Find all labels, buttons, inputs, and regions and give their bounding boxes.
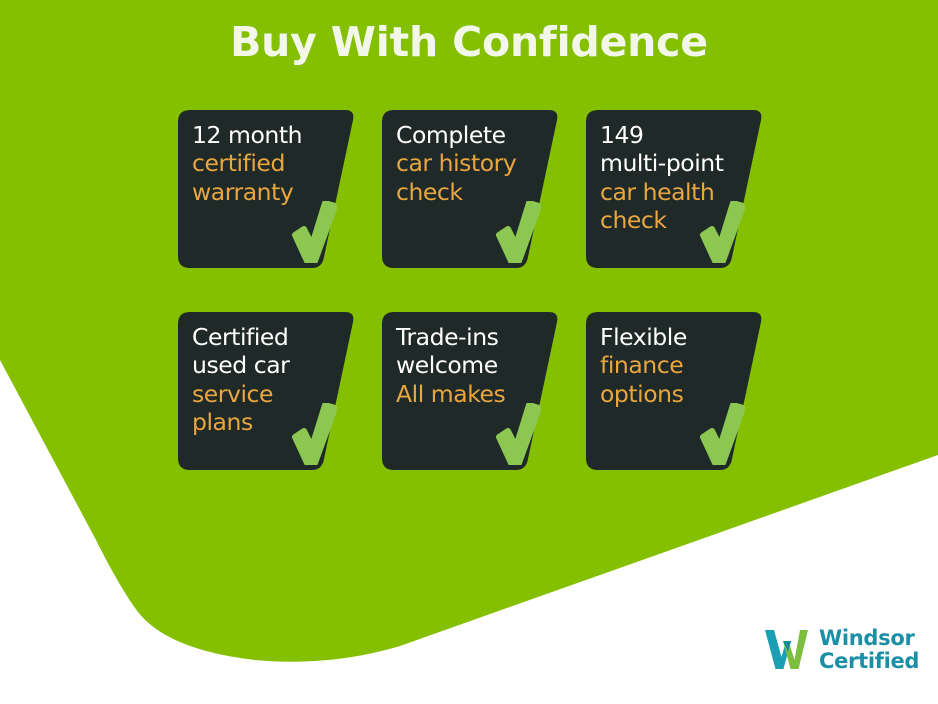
check-icon [699, 201, 745, 263]
windsor-certified-logo: Windsor Certified [762, 627, 919, 672]
logo-wordmark: Windsor Certified [819, 627, 919, 671]
card-text-block: Trade-ins welcome All makes [396, 323, 546, 408]
card-line-amber: certified [192, 149, 342, 177]
check-icon [291, 201, 337, 263]
feature-card-multi-point-health-check[interactable]: 149 multi-point car health check [586, 110, 763, 268]
card-line-white: Flexible [600, 323, 750, 351]
poster-canvas: Buy With Confidence 12 month certified w… [0, 0, 938, 704]
card-line-white: multi-point [600, 149, 750, 177]
card-line-white: 149 [600, 121, 750, 149]
feature-card-row-2: Certified used car service plans Trade-i… [178, 312, 768, 470]
feature-card-flexible-finance[interactable]: Flexible finance options [586, 312, 763, 470]
check-icon [495, 403, 541, 465]
check-icon [495, 201, 541, 263]
feature-card-trade-ins[interactable]: Trade-ins welcome All makes [382, 312, 559, 470]
check-icon [699, 403, 745, 465]
feature-card-service-plans[interactable]: Certified used car service plans [178, 312, 355, 470]
card-text-block: Flexible finance options [600, 323, 750, 408]
card-line-white: 12 month [192, 121, 342, 149]
page-title: Buy With Confidence [0, 18, 938, 66]
feature-card-certified-warranty[interactable]: 12 month certified warranty [178, 110, 355, 268]
card-text-block: Complete car history check [396, 121, 546, 206]
card-line-white: used car [192, 351, 342, 379]
card-line-white: Trade-ins [396, 323, 546, 351]
card-line-amber: finance [600, 351, 750, 379]
logo-line-certified: Certified [819, 650, 919, 672]
card-line-amber: car history [396, 149, 546, 177]
card-text-block: 12 month certified warranty [192, 121, 342, 206]
feature-card-car-history-check[interactable]: Complete car history check [382, 110, 559, 268]
windsor-w-logo-icon [762, 627, 810, 672]
card-line-white: Complete [396, 121, 546, 149]
feature-card-grid: 12 month certified warranty Complete car… [178, 110, 768, 514]
feature-card-row-1: 12 month certified warranty Complete car… [178, 110, 768, 268]
logo-line-windsor: Windsor [819, 627, 919, 649]
card-line-white: Certified [192, 323, 342, 351]
check-icon [291, 403, 337, 465]
card-line-white: welcome [396, 351, 546, 379]
